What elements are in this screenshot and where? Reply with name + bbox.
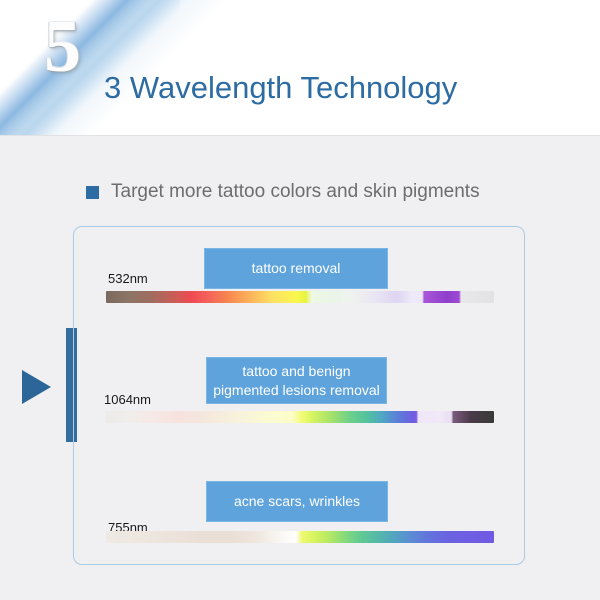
subtitle-label: Target more tattoo colors and skin pigme…: [111, 181, 480, 203]
indication-chip-755-label: acne scars, wrinkles: [234, 492, 360, 511]
spectrum-bar-1064: [106, 411, 494, 423]
indication-chip-532-label: tattoo removal: [252, 259, 341, 278]
wavelength-label-532: 532nm: [108, 271, 148, 286]
square-bullet-icon: [86, 186, 99, 199]
diagonal-ribbon-decoration: [0, 0, 180, 136]
indication-chip-755[interactable]: acne scars, wrinkles: [206, 481, 388, 522]
subtitle: Target more tattoo colors and skin pigme…: [86, 181, 480, 203]
slide-root: 5 3 Wavelength Technology Target more ta…: [0, 0, 600, 600]
indication-chip-532[interactable]: tattoo removal: [204, 248, 388, 289]
spectrum-bar-755: [106, 531, 494, 543]
indication-chip-1064-line1: tattoo and benign: [242, 363, 350, 379]
spectrum-bar-532: [106, 291, 494, 303]
indication-chip-1064-line2: pigmented lesions removal: [213, 382, 380, 398]
slide-header: 5 3 Wavelength Technology: [0, 0, 600, 136]
slide-number: 5: [44, 10, 81, 84]
wavelength-label-1064: 1064nm: [104, 392, 151, 407]
play-triangle-icon: [22, 370, 51, 404]
indication-chip-1064[interactable]: tattoo and benign pigmented lesions remo…: [206, 357, 387, 404]
page-title: 3 Wavelength Technology: [104, 70, 457, 106]
header-divider: [0, 135, 600, 136]
diagonal-ribbon-highlight: [0, 0, 230, 136]
